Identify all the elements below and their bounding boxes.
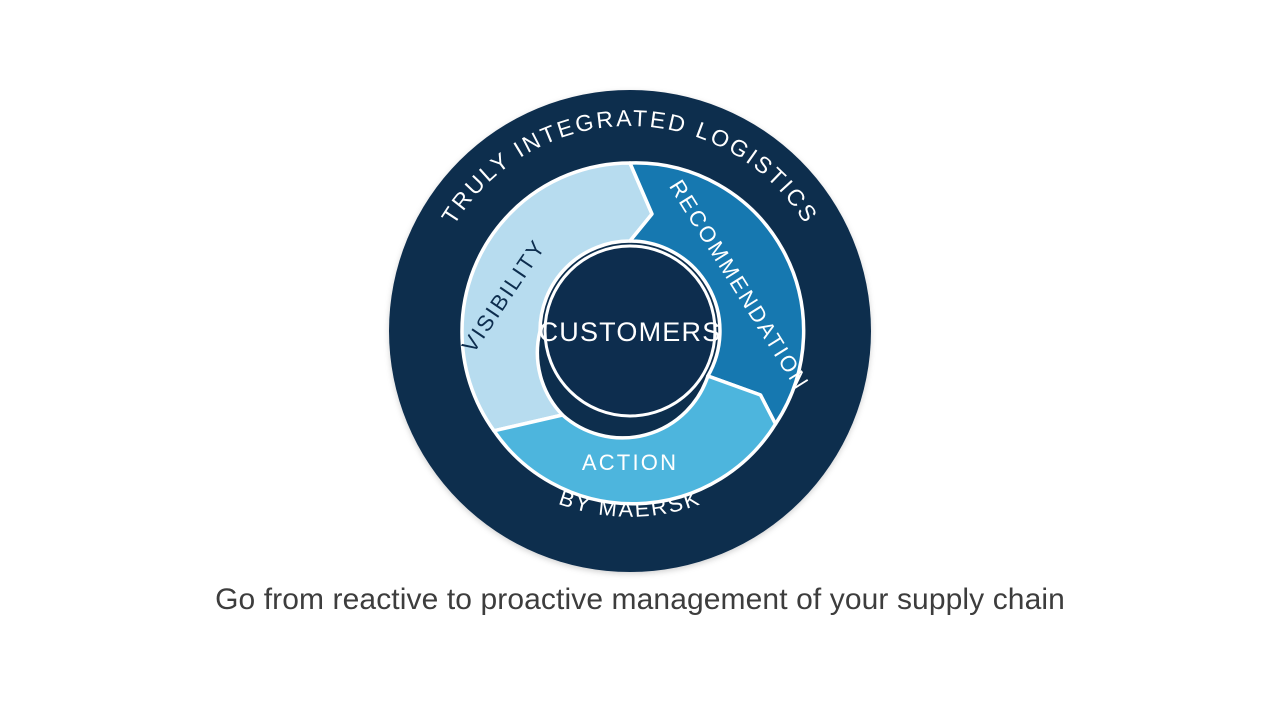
segment-action-label-group: ACTION [582, 450, 678, 475]
page-canvas: TRULY INTEGRATED LOGISTICS BY MAERSK VIS… [0, 0, 1280, 720]
caption-text: Go from reactive to proactive management… [0, 583, 1280, 617]
segment-action-label: ACTION [582, 450, 678, 475]
center-hub-label: CUSTOMERS [539, 317, 722, 347]
